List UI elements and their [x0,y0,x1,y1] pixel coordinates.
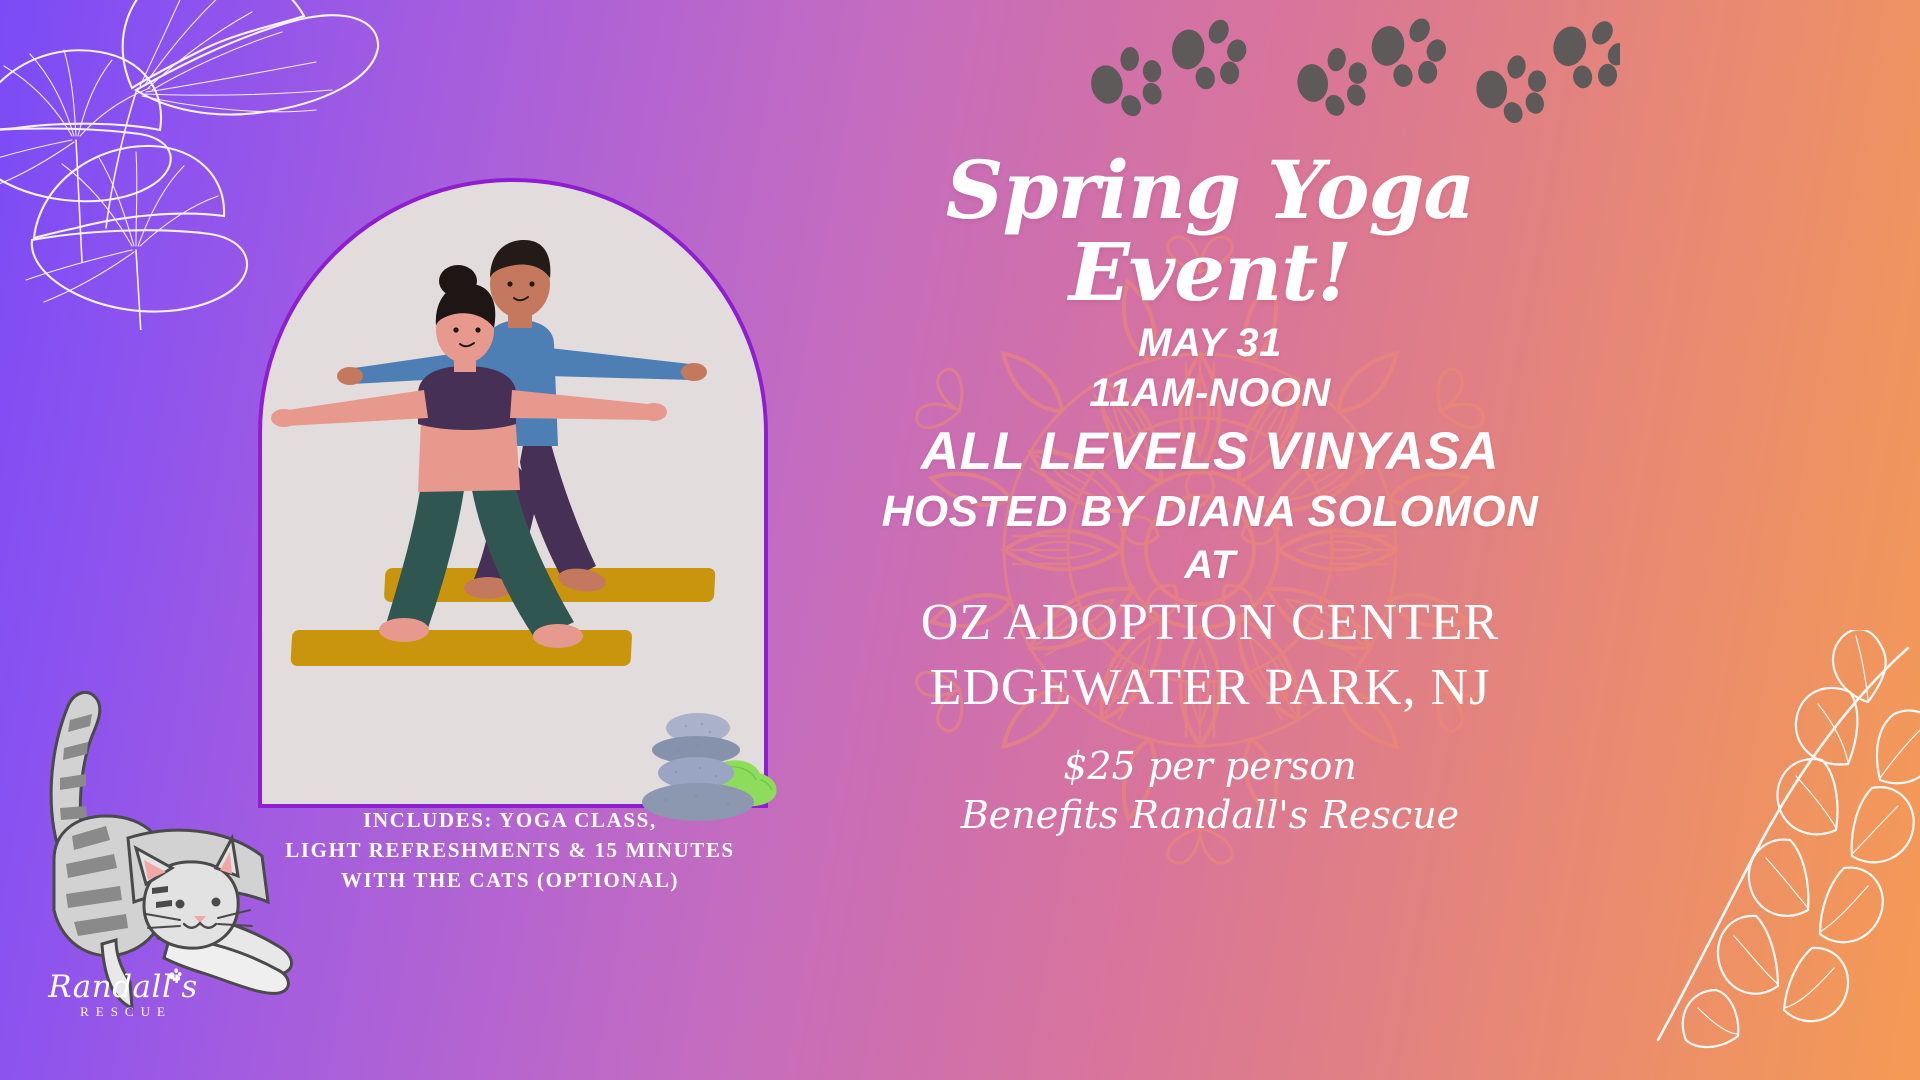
paw-print-icon [169,968,182,981]
event-flyer: Includes: Yoga Class, Light Refreshments… [0,0,1920,1080]
event-host: Hosted by Diana Solomon [850,489,1570,535]
yoga-pair-illustration [258,178,768,808]
event-time: 11am-Noon [850,373,1570,415]
logo-subtitle: RESCUE [34,1004,218,1020]
event-details: Spring Yoga Event! May 31 11am-Noon All … [850,150,1570,840]
event-price: $25 per person [850,743,1570,790]
event-benefits: Benefits Randall's Rescue [850,792,1570,839]
botanical-branch-icon [1550,630,1920,1050]
event-venue-line-1: OZ Adoption Center [850,593,1570,652]
event-at: at [850,545,1570,587]
event-date: May 31 [850,323,1570,365]
yoga-illustration-arch [258,178,768,808]
event-level: All Levels Vinyasa [850,424,1570,479]
includes-line-1: Includes: Yoga Class, [200,806,820,836]
event-venue-line-2: Edgewater Park, NJ [850,658,1570,717]
logo-name: Randall's [48,972,198,1003]
event-title: Spring Yoga Event! [850,150,1570,313]
includes-line-2: Light Refreshments & 15 Minutes [200,836,820,866]
paw-print-icon [1080,10,1620,140]
includes-line-3: With The Cats (Optional) [200,866,820,896]
randalls-rescue-logo: Randall's RESCUE [28,972,218,1020]
includes-caption: Includes: Yoga Class, Light Refreshments… [200,806,820,895]
